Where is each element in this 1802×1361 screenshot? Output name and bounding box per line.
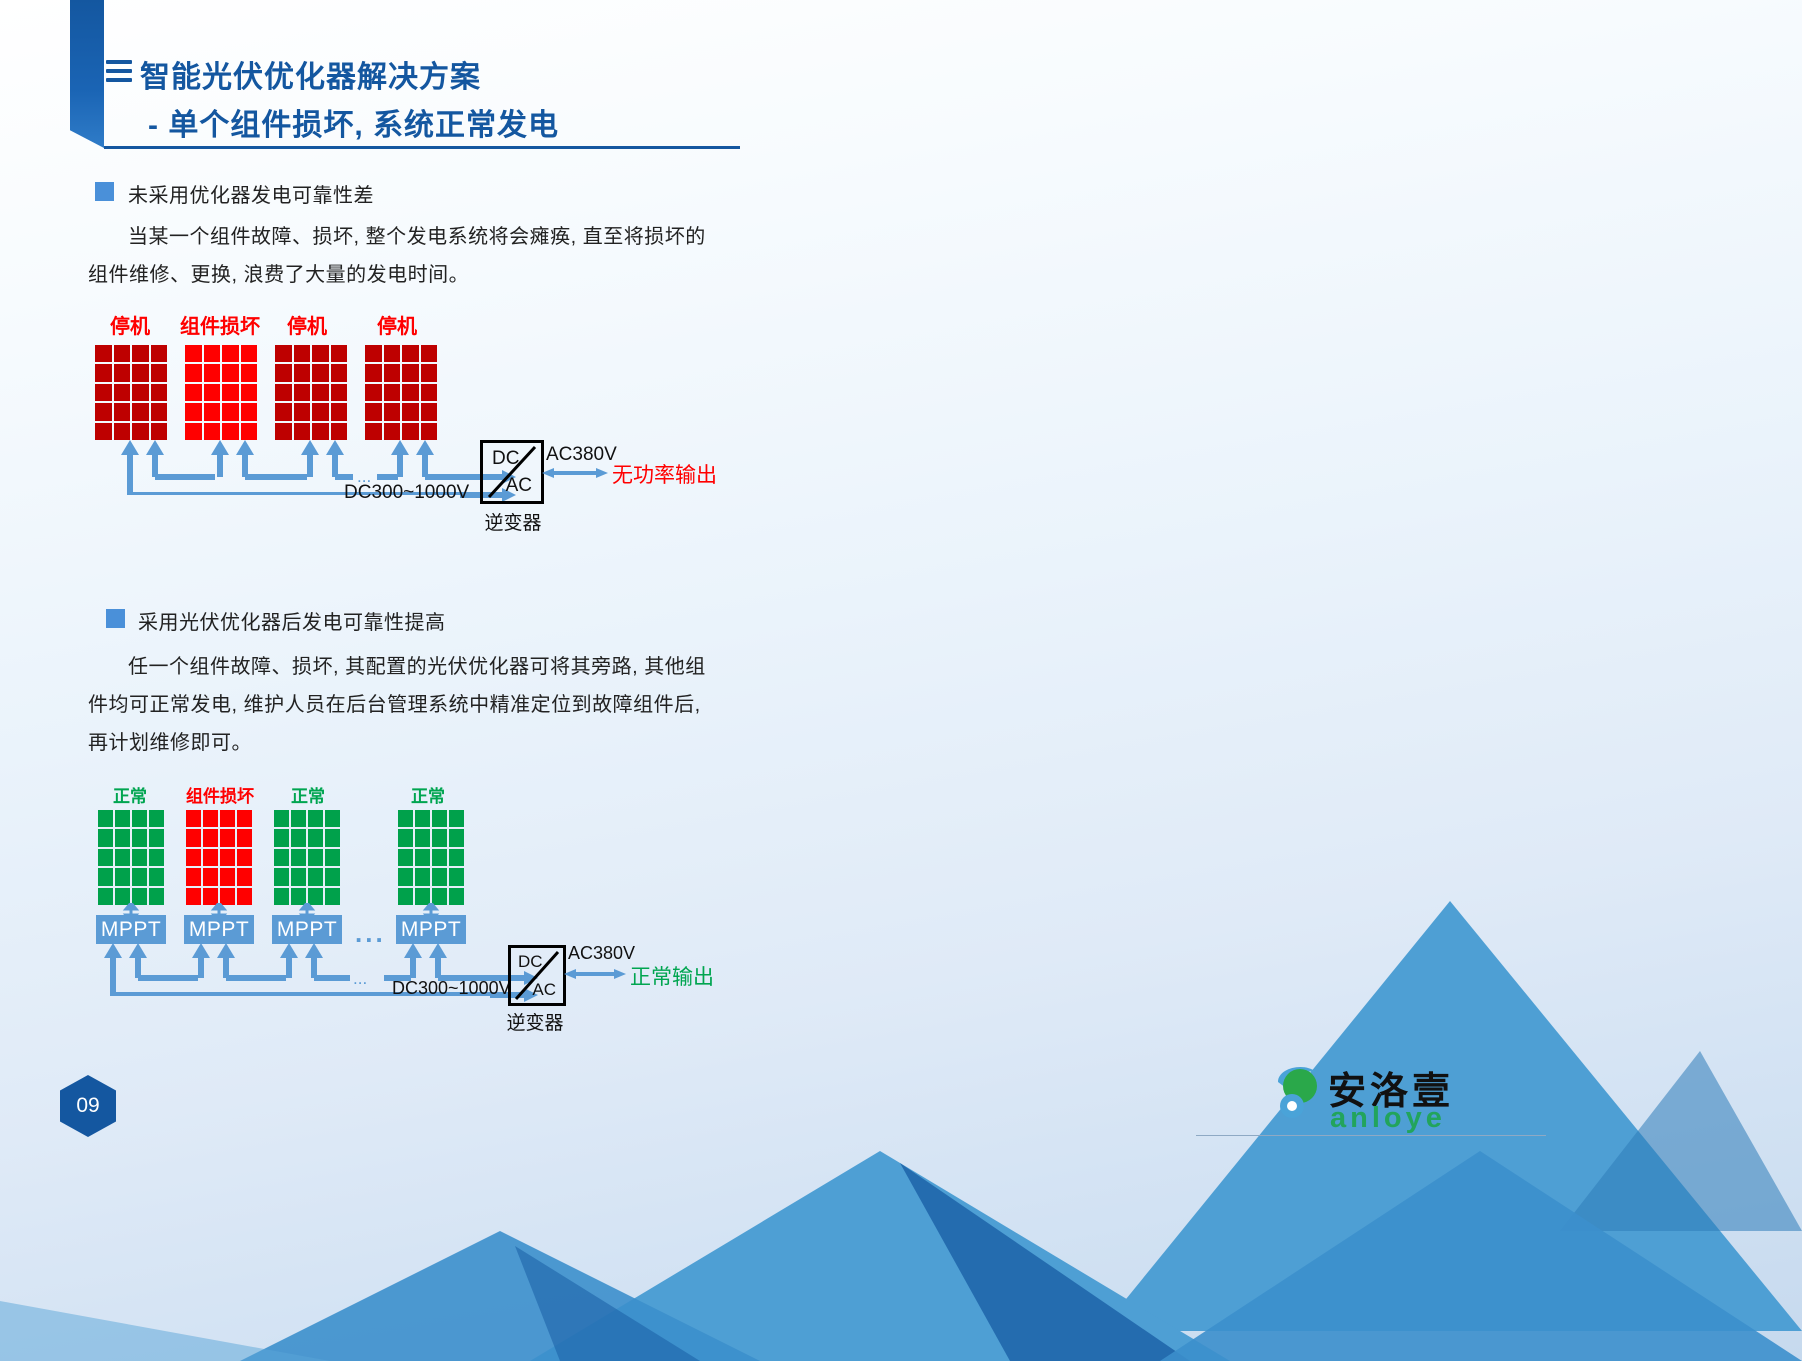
- pv-cell: [114, 345, 131, 362]
- pv-cell: [115, 849, 130, 866]
- pv-cell: [114, 384, 131, 401]
- pv-cell: [204, 345, 221, 362]
- pv-cell: [415, 849, 430, 866]
- pv-cell: [98, 868, 113, 885]
- pv-cell: [384, 384, 401, 401]
- inverter-box-2: DC AC: [508, 945, 566, 1006]
- pv-cell: [222, 364, 239, 381]
- output-label-2: 正常输出: [630, 961, 714, 991]
- pv-cell: [291, 829, 306, 846]
- panel2-label-4: 正常: [388, 782, 468, 807]
- pv-cell: [220, 868, 235, 885]
- pv-cell: [115, 829, 130, 846]
- page-subtitle: - 单个组件损坏, 系统正常发电: [148, 100, 559, 144]
- pv-cell: [365, 364, 382, 381]
- pv-cell: [402, 364, 419, 381]
- pv-cell: [415, 810, 430, 827]
- pv-cell: [421, 403, 438, 420]
- pv-cell: [204, 364, 221, 381]
- pv-cell: [275, 403, 292, 420]
- section2-paragraph-line1: 任一个组件故障、损坏, 其配置的光伏优化器可将其旁路, 其他组: [128, 656, 706, 678]
- pv-cell: [294, 384, 311, 401]
- pv-panel-2: [185, 345, 257, 440]
- pv-cell: [331, 345, 348, 362]
- pv-cell: [325, 849, 340, 866]
- pv-cell: [325, 868, 340, 885]
- pv-cell: [365, 384, 382, 401]
- pv-cell: [384, 364, 401, 381]
- section2-heading: 采用光伏优化器后发电可靠性提高: [138, 606, 446, 635]
- pv-cell: [274, 849, 289, 866]
- dc-voltage-label-2: DC300~1000V: [392, 978, 511, 999]
- pv-cell: [275, 345, 292, 362]
- pv-cell: [365, 345, 382, 362]
- pv-cell: [115, 868, 130, 885]
- pv-cell: [237, 829, 252, 846]
- brand-logo: 安洛壹 anloye: [1270, 1058, 1500, 1138]
- header-accent-bar: [70, 0, 104, 148]
- pv-cell: [402, 403, 419, 420]
- panel-label-2: 组件损坏: [170, 310, 270, 339]
- pv-cell: [415, 829, 430, 846]
- section2-paragraph-line2: 件均可正常发电, 维护人员在后台管理系统中精准定位到故障组件后,: [88, 694, 701, 716]
- inverter-ac-label-2: AC: [532, 980, 556, 1000]
- pv-cell: [220, 849, 235, 866]
- pv-cell: [432, 829, 447, 846]
- pv-cell: [312, 403, 329, 420]
- pv-cell: [132, 364, 149, 381]
- pv-cell: [186, 849, 201, 866]
- pv-cell: [186, 868, 201, 885]
- panel-label-3: 停机: [265, 310, 349, 339]
- pv-cell: [132, 829, 147, 846]
- dc-voltage-label-1: DC300~1000V: [344, 482, 469, 504]
- pv-cell: [312, 364, 329, 381]
- ac-output-arrow-2: [562, 963, 628, 985]
- pv-cell: [95, 384, 112, 401]
- pv-cell: [421, 384, 438, 401]
- ac-voltage-label-2: AC380V: [568, 943, 635, 964]
- pv-cell: [308, 829, 323, 846]
- pv-cell: [241, 345, 258, 362]
- pv-cell: [220, 829, 235, 846]
- pv-cell: [384, 403, 401, 420]
- pv-cell: [237, 810, 252, 827]
- pv-cell: [241, 403, 258, 420]
- section1-paragraph: 当某一个组件故障、损坏, 整个发电系统将会瘫痪, 直至将损坏的 组件维修、更换,…: [88, 218, 788, 294]
- pv-cell: [95, 364, 112, 381]
- pv-cell: [204, 384, 221, 401]
- pv-panel-1: [95, 345, 167, 440]
- pv-panel2-2: [186, 810, 252, 905]
- pv-cell: [98, 810, 113, 827]
- panel-label-4: 停机: [355, 310, 439, 339]
- pv-cell: [222, 384, 239, 401]
- inverter-caption-1: 逆变器: [478, 508, 548, 535]
- section1-paragraph-line1: 当某一个组件故障、损坏, 整个发电系统将会瘫痪, 直至将损坏的: [128, 226, 706, 248]
- pv-cell: [398, 810, 413, 827]
- pv-cell: [275, 364, 292, 381]
- inverter-ac-label-1: AC: [506, 475, 532, 497]
- pv-cell: [421, 345, 438, 362]
- panel2-label-3: 正常: [268, 782, 348, 807]
- pv-cell: [132, 345, 149, 362]
- output-label-1: 无功率输出: [612, 459, 717, 489]
- section2-paragraph: 任一个组件故障、损坏, 其配置的光伏优化器可将其旁路, 其他组 件均可正常发电,…: [88, 648, 808, 762]
- pv-cell: [294, 345, 311, 362]
- pv-cell: [421, 364, 438, 381]
- pv-cell: [114, 403, 131, 420]
- inverter-dc-label-1: DC: [492, 448, 519, 470]
- pv-cell: [95, 403, 112, 420]
- pv-cell: [274, 868, 289, 885]
- pv-cell: [237, 868, 252, 885]
- page-title: 智能光伏优化器解决方案: [140, 52, 481, 96]
- pv-cell: [312, 345, 329, 362]
- pv-cell: [308, 810, 323, 827]
- pv-panel2-3: [274, 810, 340, 905]
- inverter-box-1: DC AC: [480, 440, 544, 504]
- pv-cell: [308, 849, 323, 866]
- ac-output-arrow-1: [540, 462, 610, 484]
- slide-page: 智能光伏优化器解决方案 - 单个组件损坏, 系统正常发电 未采用优化器发电可靠性…: [0, 0, 1802, 1361]
- pv-cell: [185, 384, 202, 401]
- logo-mark-icon: [1270, 1062, 1328, 1126]
- pv-cell: [241, 384, 258, 401]
- pv-cell: [291, 868, 306, 885]
- pv-cell: [132, 849, 147, 866]
- pv-cell: [432, 868, 447, 885]
- pv-cell: [114, 364, 131, 381]
- pv-cell: [398, 868, 413, 885]
- pv-cell: [203, 810, 218, 827]
- pv-cell: [384, 345, 401, 362]
- pv-cell: [325, 829, 340, 846]
- pv-cell: [274, 829, 289, 846]
- pv-cell: [449, 849, 464, 866]
- section1-paragraph-line2: 组件维修、更换, 浪费了大量的发电时间。: [88, 264, 469, 286]
- pv-cell: [132, 403, 149, 420]
- pv-cell: [294, 403, 311, 420]
- pv-panel2-1: [98, 810, 164, 905]
- pv-cell: [186, 810, 201, 827]
- pv-cell: [237, 849, 252, 866]
- pv-cell: [365, 403, 382, 420]
- pv-cell: [132, 868, 147, 885]
- pv-cell: [275, 384, 292, 401]
- pv-panel-3: [275, 345, 347, 440]
- pv-cell: [398, 829, 413, 846]
- pv-cell: [115, 810, 130, 827]
- pv-cell: [222, 345, 239, 362]
- pv-cell: [220, 810, 235, 827]
- pv-cell: [151, 384, 168, 401]
- pv-cell: [149, 810, 164, 827]
- section1-bullet-icon: [95, 182, 114, 201]
- pv-cell: [449, 829, 464, 846]
- pv-cell: [241, 364, 258, 381]
- pv-cell: [449, 810, 464, 827]
- panel2-label-2: 组件损坏: [174, 782, 266, 807]
- panel-label-1: 停机: [88, 310, 172, 339]
- svg-text:...: ...: [353, 969, 367, 988]
- section1-heading: 未采用优化器发电可靠性差: [128, 179, 374, 208]
- section2-paragraph-line3: 再计划维修即可。: [88, 732, 252, 754]
- pv-cell: [308, 868, 323, 885]
- pv-cell: [132, 810, 147, 827]
- pv-cell: [151, 345, 168, 362]
- pv-cell: [432, 849, 447, 866]
- pv-cell: [203, 849, 218, 866]
- pv-cell: [325, 810, 340, 827]
- pv-cell: [185, 403, 202, 420]
- pv-cell: [98, 829, 113, 846]
- pv-cell: [312, 384, 329, 401]
- pv-cell: [98, 849, 113, 866]
- pv-cell: [186, 829, 201, 846]
- pv-cell: [402, 345, 419, 362]
- pv-cell: [149, 868, 164, 885]
- pv-cell: [203, 868, 218, 885]
- pv-cell: [95, 345, 112, 362]
- pv-panel-4: [365, 345, 437, 440]
- pv-cell: [402, 384, 419, 401]
- hamburger-icon: [106, 60, 132, 86]
- section2-bullet-icon: [106, 609, 125, 628]
- pv-cell: [203, 829, 218, 846]
- pv-cell: [291, 810, 306, 827]
- pv-cell: [398, 849, 413, 866]
- inverter-caption-2: 逆变器: [500, 1008, 570, 1035]
- pv-cell: [432, 810, 447, 827]
- pv-cell: [149, 849, 164, 866]
- pv-panel2-4: [398, 810, 464, 905]
- header-divider: [104, 146, 740, 149]
- pv-cell: [331, 403, 348, 420]
- pv-cell: [151, 403, 168, 420]
- pv-cell: [185, 364, 202, 381]
- inverter-dc-label-2: DC: [518, 952, 543, 972]
- pv-cell: [291, 849, 306, 866]
- panel2-label-1: 正常: [90, 782, 170, 807]
- pv-cell: [449, 868, 464, 885]
- pv-cell: [185, 345, 202, 362]
- pv-cell: [222, 403, 239, 420]
- logo-english-name: anloye: [1330, 1102, 1446, 1135]
- pv-cell: [151, 364, 168, 381]
- pv-cell: [149, 829, 164, 846]
- pv-cell: [415, 868, 430, 885]
- pv-cell: [204, 403, 221, 420]
- pv-cell: [132, 384, 149, 401]
- pv-cell: [274, 810, 289, 827]
- pv-cell: [331, 384, 348, 401]
- pv-cell: [331, 364, 348, 381]
- pv-cell: [294, 364, 311, 381]
